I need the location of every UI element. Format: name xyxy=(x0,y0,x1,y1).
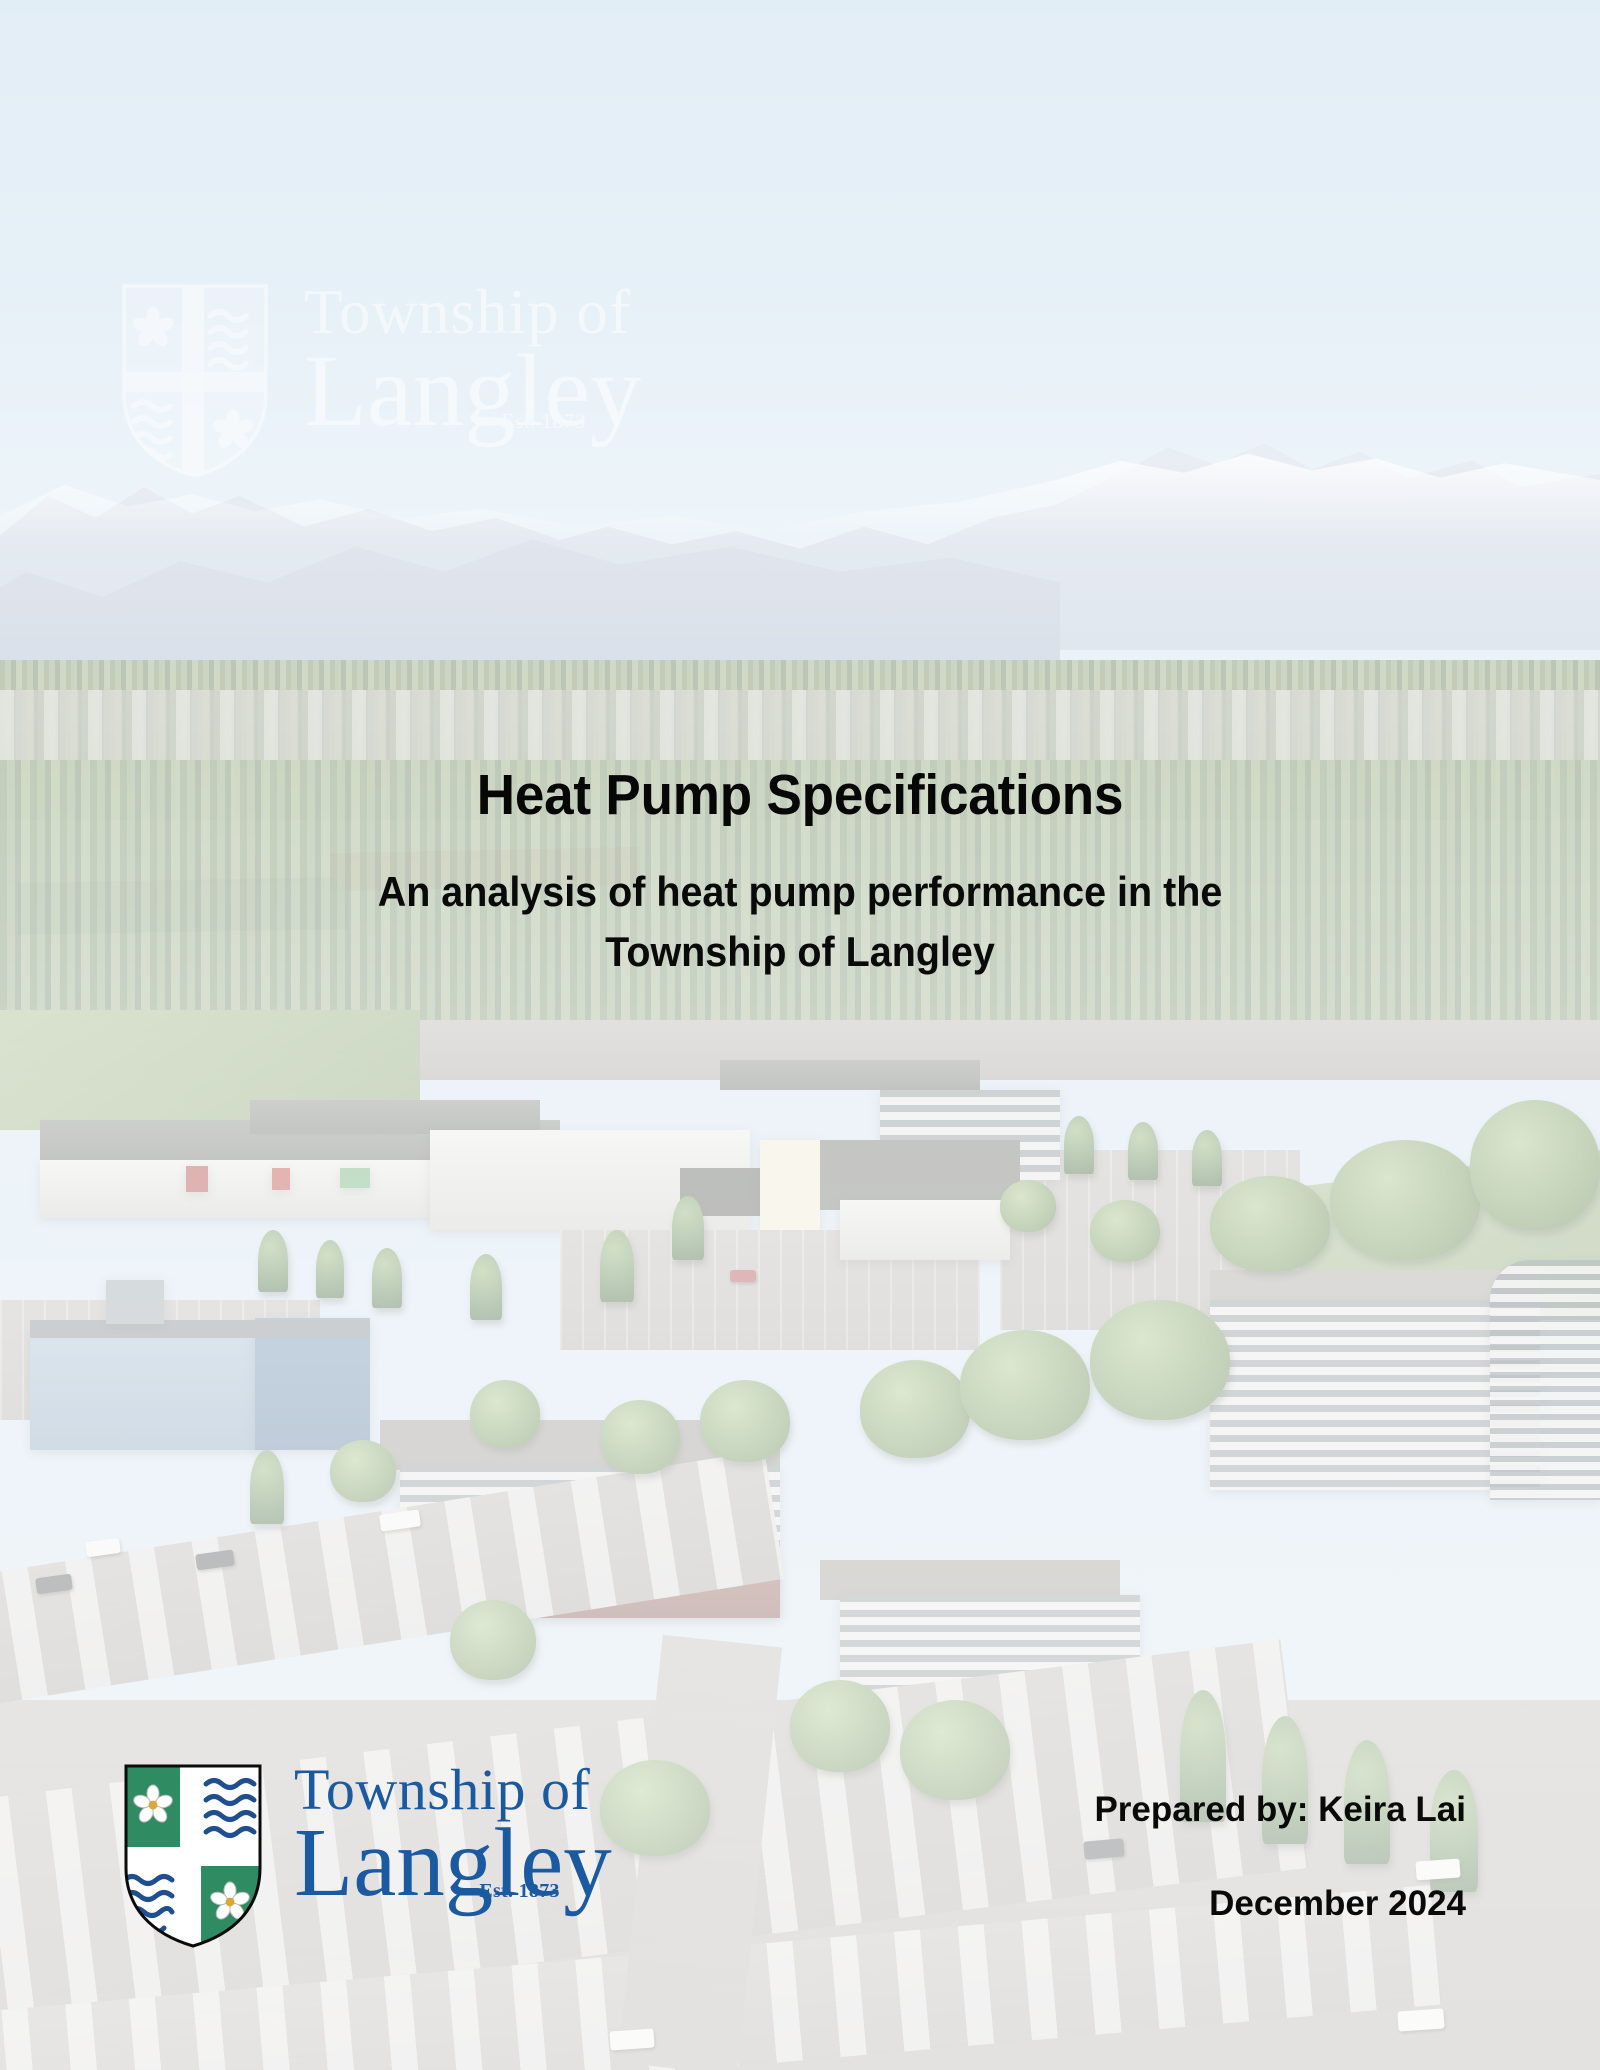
langley-shield-icon xyxy=(120,282,270,480)
watermark-line-bottom: Langley Est. 1873 xyxy=(304,342,641,441)
footer-logo-line-bottom: Langley Est. 1873 xyxy=(294,1817,612,1909)
watermark-logo: Township of Langley Est. 1873 xyxy=(120,282,641,480)
footer-wordmark: Township of Langley Est. 1873 xyxy=(294,1762,612,1909)
footer-logo: Township of Langley Est. 1873 xyxy=(122,1762,612,1950)
watermark-line-bottom-text: Langley xyxy=(304,334,641,448)
page-title: Heat Pump Specifications xyxy=(56,762,1544,828)
watermark-line-top: Township of xyxy=(304,282,631,342)
title-block: Heat Pump Specifications An analysis of … xyxy=(0,762,1600,981)
document-cover-page: Township of Langley Est. 1873 Heat Pump … xyxy=(0,0,1600,2070)
footer-logo-line-bottom-text: Langley xyxy=(294,1809,612,1916)
subtitle-line-2: Township of Langley xyxy=(48,922,1552,982)
date-text: December 2024 xyxy=(1094,1884,1466,1924)
langley-shield-icon xyxy=(122,1762,264,1950)
subtitle-line-1: An analysis of heat pump performance in … xyxy=(48,862,1552,922)
watermark-wordmark: Township of Langley Est. 1873 xyxy=(304,282,641,441)
prepared-by-text: Prepared by: Keira Lai xyxy=(1094,1790,1466,1830)
watermark-established-text: Est. 1873 xyxy=(502,411,586,431)
credits-block: Prepared by: Keira Lai December 2024 xyxy=(1094,1790,1466,1924)
page-subtitle: An analysis of heat pump performance in … xyxy=(48,862,1552,981)
footer-established-text: Est. 1873 xyxy=(479,1882,559,1901)
